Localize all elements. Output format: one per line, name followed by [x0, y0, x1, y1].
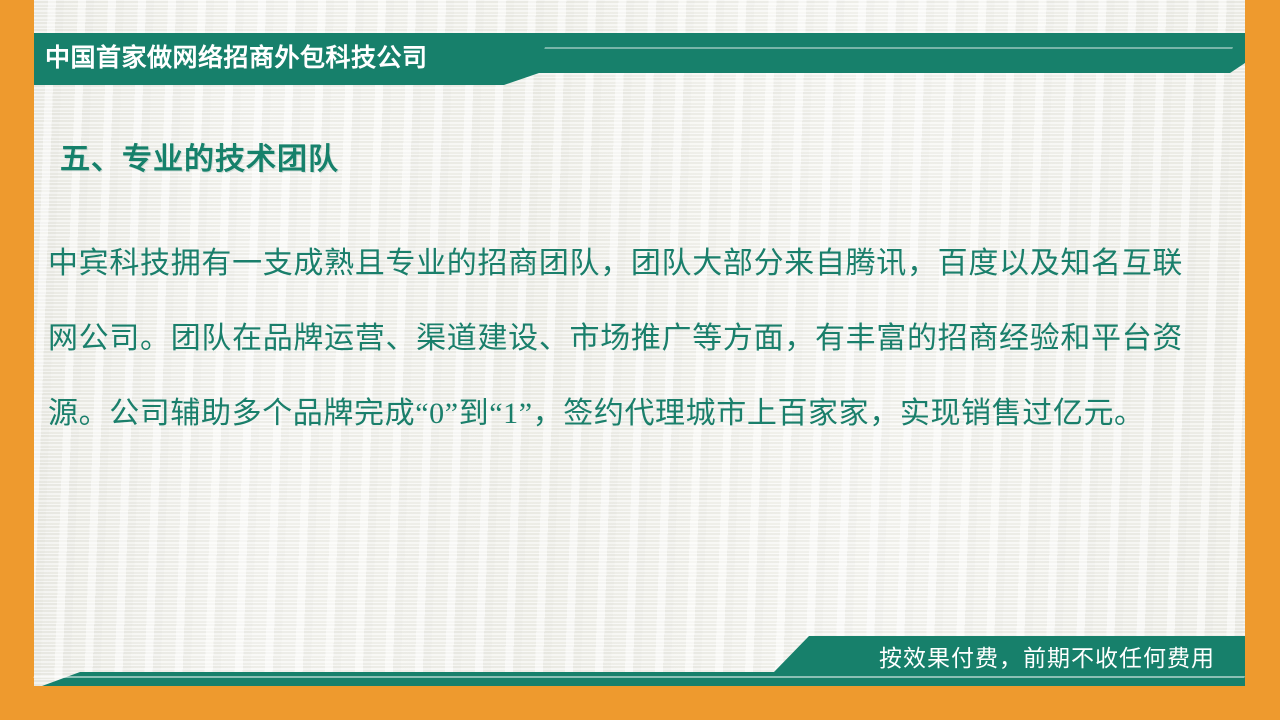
footer-tagline: 按效果付费，前期不收任何费用 — [879, 636, 1215, 686]
body-paragraph: 中宾科技拥有一支成熟且专业的招商团队，团队大部分来自腾讯，百度以及知名互联网公司… — [48, 226, 1183, 451]
section-heading: 五、专业的技术团队 — [60, 134, 339, 178]
slide-root: 中国首家做网络招商外包科技公司 五、专业的技术团队 中宾科技拥有一支成熟且专业的… — [0, 0, 1280, 720]
header-accent-line — [544, 47, 1233, 49]
header-title: 中国首家做网络招商外包科技公司 — [45, 33, 428, 85]
slide-header: 中国首家做网络招商外包科技公司 — [34, 33, 1245, 85]
slide-footer: 按效果付费，前期不收任何费用 — [34, 636, 1245, 686]
